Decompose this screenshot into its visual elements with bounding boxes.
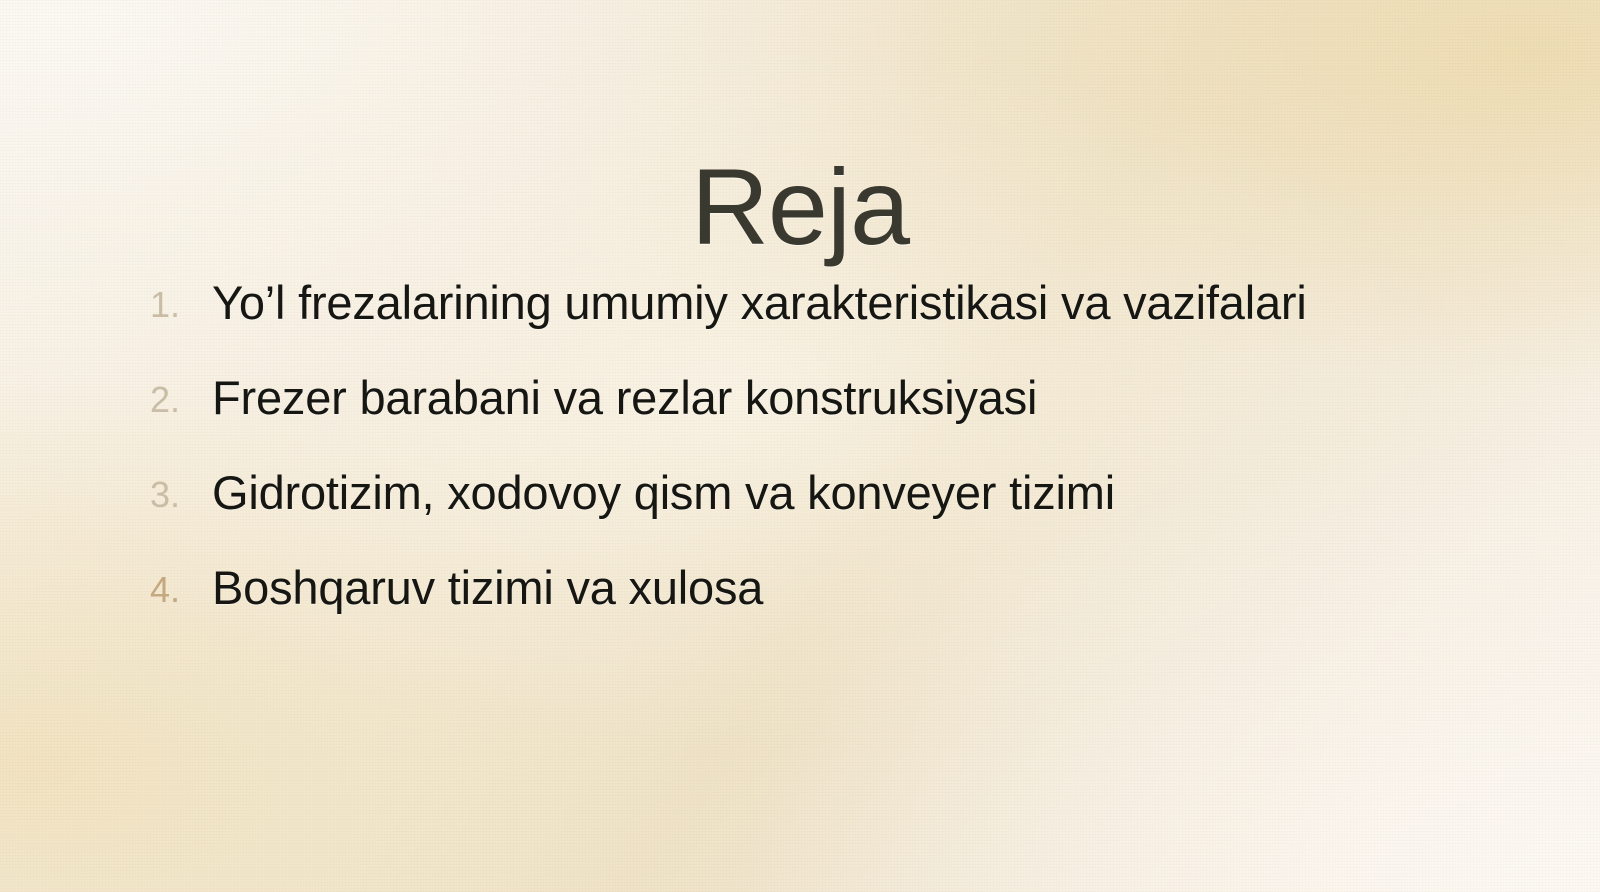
agenda-item-label: Frezer barabani va rezlar konstruksiyasi — [212, 367, 1450, 428]
agenda-item-number: 4. — [150, 557, 212, 613]
agenda-item-1: 1. Yo’l frezalarining umumiy xarakterist… — [150, 272, 1450, 333]
agenda-item-number: 1. — [150, 272, 212, 328]
agenda-item-label: Gidrotizim, xodovoy qism va konveyer tiz… — [212, 462, 1450, 523]
slide-content: Reja 1. Yo’l frezalarining umumiy xarakt… — [0, 0, 1600, 892]
agenda-item-number: 2. — [150, 367, 212, 423]
agenda-item-label: Yo’l frezalarining umumiy xarakteristika… — [212, 272, 1450, 333]
agenda-item-label: Boshqaruv tizimi va xulosa — [212, 557, 1450, 618]
slide-title: Reja — [0, 150, 1600, 263]
presentation-slide: Reja 1. Yo’l frezalarining umumiy xarakt… — [0, 0, 1600, 892]
agenda-item-3: 3. Gidrotizim, xodovoy qism va konveyer … — [150, 462, 1450, 523]
agenda-item-number: 3. — [150, 462, 212, 518]
agenda-item-2: 2. Frezer barabani va rezlar konstruksiy… — [150, 367, 1450, 428]
agenda-list: 1. Yo’l frezalarining umumiy xarakterist… — [150, 272, 1450, 618]
agenda-item-4: 4. Boshqaruv tizimi va xulosa — [150, 557, 1450, 618]
